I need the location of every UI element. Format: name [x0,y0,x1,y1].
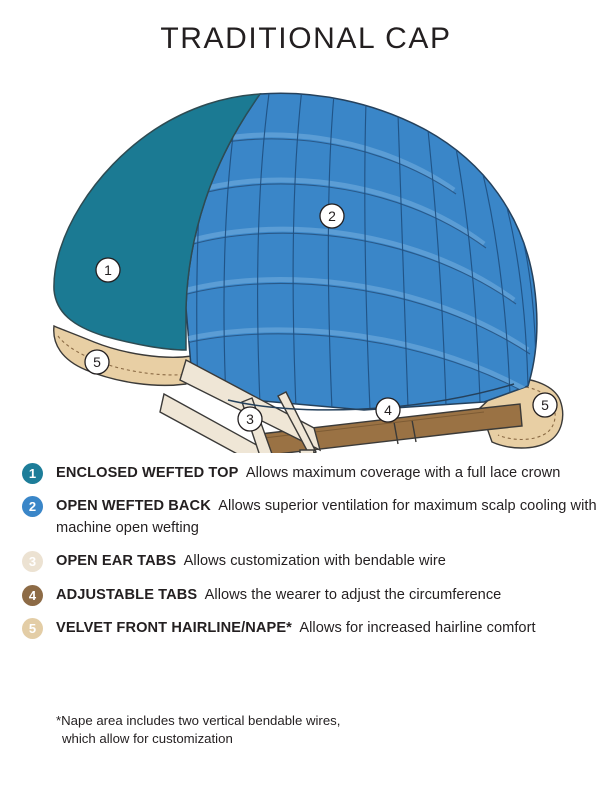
diagram-marker-4-label: 4 [384,402,392,418]
diagram-marker-4: 4 [376,398,400,422]
footnote: *Nape area includes two vertical bendabl… [56,712,576,748]
diagram-marker-5-right: 5 [533,393,557,417]
legend-heading-1: ENCLOSED WEFTED TOP [56,465,238,481]
legend-item-adjustable-tabs: 4 ADJUSTABLE TABS Allows the wearer to a… [22,584,598,605]
legend-badge-2: 2 [22,496,43,517]
legend-item-open-ear-tabs: 3 OPEN EAR TABS Allows customization wit… [22,550,598,571]
diagram-marker-1-label: 1 [104,262,112,278]
legend-list: 1 ENCLOSED WEFTED TOP Allows maximum cov… [22,462,598,650]
diagram-marker-5-left-label: 5 [93,354,101,370]
page-title: TRADITIONAL CAP [0,22,612,56]
cap-diagram: 1 2 3 4 5 5 [14,78,598,453]
footnote-line-2: which allow for customization [56,730,576,748]
legend-item-enclosed-wefted-top: 1 ENCLOSED WEFTED TOP Allows maximum cov… [22,462,598,483]
diagram-marker-3-label: 3 [246,411,254,427]
legend-text-2: OPEN WEFTED BACK Allows superior ventila… [56,498,601,535]
legend-text-1: ENCLOSED WEFTED TOP Allows maximum cover… [56,465,560,481]
footnote-line-1: *Nape area includes two vertical bendabl… [56,712,576,730]
legend-badge-1: 1 [22,463,43,484]
legend-heading-2: OPEN WEFTED BACK [56,498,211,514]
legend-description-4: Allows the wearer to adjust the circumfe… [197,587,501,603]
legend-heading-4: ADJUSTABLE TABS [56,587,197,603]
legend-item-velvet-front-hairline-nape: 5 VELVET FRONT HAIRLINE/NAPE* Allows for… [22,617,598,638]
legend-heading-3: OPEN EAR TABS [56,553,176,569]
legend-item-open-wefted-back: 2 OPEN WEFTED BACK Allows superior venti… [22,495,598,538]
legend-text-4: ADJUSTABLE TABS Allows the wearer to adj… [56,587,501,603]
legend-heading-5: VELVET FRONT HAIRLINE/NAPE* [56,620,292,636]
diagram-marker-2-label: 2 [328,208,336,224]
diagram-marker-5-left: 5 [85,350,109,374]
legend-badge-3: 3 [22,551,43,572]
diagram-marker-2: 2 [320,204,344,228]
diagram-marker-3: 3 [238,407,262,431]
legend-description-1: Allows maximum coverage with a full lace… [238,465,560,481]
legend-description-5: Allows for increased hairline comfort [292,620,536,636]
diagram-marker-1: 1 [96,258,120,282]
diagram-marker-5-right-label: 5 [541,397,549,413]
legend-badge-4: 4 [22,585,43,606]
legend-description-3: Allows customization with bendable wire [176,553,446,569]
legend-badge-5: 5 [22,618,43,639]
legend-text-5: VELVET FRONT HAIRLINE/NAPE* Allows for i… [56,620,536,636]
legend-text-3: OPEN EAR TABS Allows customization with … [56,553,446,569]
